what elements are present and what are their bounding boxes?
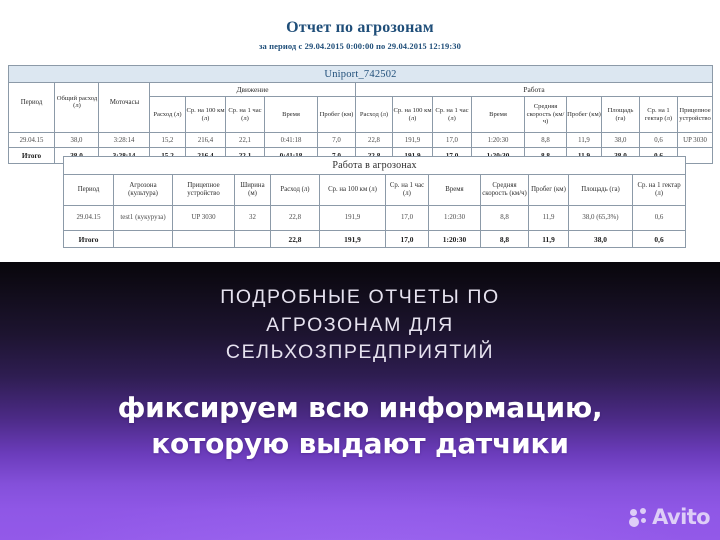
cell: 0,6 — [633, 206, 686, 231]
col-header: Время — [265, 97, 318, 133]
promo-subheadline-line: которую выдают датчики — [0, 426, 720, 462]
col-header: Время — [429, 175, 481, 206]
avito-logo-icon — [629, 508, 648, 527]
col-header: Прицепное устройство — [173, 175, 235, 206]
col-header: Ср. на 1 час (л) — [226, 97, 265, 133]
cell: 0:41:18 — [265, 133, 318, 148]
group-header-movement: Движение — [150, 83, 356, 97]
col-header: Время — [472, 97, 525, 133]
cell: 8,8 — [481, 206, 529, 231]
report-document: Отчет по агрозонам за период с 29.04.201… — [0, 0, 720, 262]
cell: 29.04.15 — [64, 206, 114, 231]
cell — [173, 231, 235, 248]
col-header: Средняя скорость (км/ч) — [525, 97, 567, 133]
col-header: Расход (л) — [150, 97, 186, 133]
agro-table-data-row: 29.04.15 test1 (кукуруза) UP 3030 32 22,… — [64, 206, 686, 231]
cell: Итого — [9, 148, 55, 164]
agro-table-band-row: Работа в агрозонах — [64, 157, 686, 175]
col-header: Ср. на 100 км (л) — [186, 97, 226, 133]
col-header: Ср. на 1 гектар (л) — [640, 97, 678, 133]
promo-banner: ПОДРОБНЫЕ ОТЧЕТЫ ПО АГРОЗОНАМ ДЛЯ СЕЛЬХО… — [0, 262, 720, 540]
agrozone-work-table: Работа в агрозонах Период Агрозона (куль… — [63, 156, 686, 248]
cell: 7,0 — [318, 133, 356, 148]
promo-subheadline-line: фиксируем всю информацию, — [0, 390, 720, 426]
cell: 11,9 — [567, 133, 602, 148]
cell: 29.04.15 — [9, 133, 55, 148]
main-table-container: Uniport_742502 Движение Работа Расход (л… — [8, 65, 712, 164]
cell: 191,9 — [320, 206, 386, 231]
col-header: Пробег (км) — [318, 97, 356, 133]
agro-table-header-row: Период Агрозона (культура) Прицепное уст… — [64, 175, 686, 206]
agrozone-band-title: Работа в агрозонах — [64, 157, 686, 175]
cell: 8,8 — [525, 133, 567, 148]
cell: 191,9 — [393, 133, 433, 148]
main-table-data-row: 29.04.15 38,0 3:28:14 15,2 216,4 22,1 0:… — [9, 133, 713, 148]
cell: 1:20:30 — [472, 133, 525, 148]
cell: 11,9 — [529, 231, 569, 248]
col-header: Ср. на 1 час (л) — [433, 97, 472, 133]
col-header: Расход (л) — [271, 175, 320, 206]
promo-headline: ПОДРОБНЫЕ ОТЧЕТЫ ПО АГРОЗОНАМ ДЛЯ СЕЛЬХО… — [0, 284, 720, 367]
cell: 38,0 — [602, 133, 640, 148]
cell: 191,9 — [320, 231, 386, 248]
col-header: Ср. на 1 час (л) — [386, 175, 429, 206]
cell: UP 3030 — [678, 133, 713, 148]
col-header: Период — [9, 80, 54, 124]
col-header: Моточасы — [99, 80, 150, 124]
cell — [235, 231, 271, 248]
cell: 17,0 — [386, 231, 429, 248]
cell: 38,0 — [569, 231, 633, 248]
cell: test1 (кукуруза) — [114, 206, 173, 231]
cell: 38,0 (65,3%) — [569, 206, 633, 231]
col-header: Расход (л) — [356, 97, 393, 133]
cell: 22,8 — [356, 133, 393, 148]
group-header-work: Работа — [356, 83, 713, 97]
col-header: Период — [64, 175, 114, 206]
col-header: Пробег (км) — [567, 97, 602, 133]
screenshot-root: Отчет по агрозонам за период с 29.04.201… — [0, 0, 720, 540]
col-header: Ширина (м) — [235, 175, 271, 206]
col-header: Пробег (км) — [529, 175, 569, 206]
col-header: Ср. на 1 гектар (л) — [633, 175, 686, 206]
cell: 1:20:30 — [429, 231, 481, 248]
cell: Итого — [64, 231, 114, 248]
cell: 8,8 — [481, 231, 529, 248]
cell: 1:20:30 — [429, 206, 481, 231]
avito-wordmark: Avito — [652, 507, 710, 528]
cell: 17,0 — [433, 133, 472, 148]
agrozone-table-container: Работа в агрозонах Период Агрозона (куль… — [63, 156, 655, 248]
report-title: Отчет по агрозонам — [0, 0, 720, 37]
col-header: Площадь (га) — [569, 175, 633, 206]
promo-headline-line: АГРОЗОНАМ ДЛЯ — [0, 312, 720, 340]
cell: 32 — [235, 206, 271, 231]
agro-table-total-row: Итого 22,8 191,9 17,0 1:20:30 8,8 11,9 3… — [64, 231, 686, 248]
promo-headline-line: СЕЛЬХОЗПРЕДПРИЯТИЙ — [0, 339, 720, 367]
col-header: Ср. на 100 км (л) — [393, 97, 433, 133]
avito-watermark: Avito — [629, 507, 710, 528]
report-period-subtitle: за период с 29.04.2015 0:00:00 по 29.04.… — [0, 41, 720, 51]
col-header: Общий расход (л) — [55, 80, 99, 124]
cell: 216,4 — [186, 133, 226, 148]
promo-banner-inner: ПОДРОБНЫЕ ОТЧЕТЫ ПО АГРОЗОНАМ ДЛЯ СЕЛЬХО… — [0, 262, 720, 540]
col-header: Агрозона (культура) — [114, 175, 173, 206]
cell: 22,1 — [226, 133, 265, 148]
cell: UP 3030 — [173, 206, 235, 231]
promo-headline-line: ПОДРОБНЫЕ ОТЧЕТЫ ПО — [0, 284, 720, 312]
cell: 11,9 — [529, 206, 569, 231]
cell: 17,0 — [386, 206, 429, 231]
cell: 22,8 — [271, 206, 320, 231]
promo-subheadline: фиксируем всю информацию, которую выдают… — [0, 390, 720, 462]
cell — [114, 231, 173, 248]
col-header: Площадь (га) — [602, 97, 640, 133]
col-header: Ср. на 100 км (л) — [320, 175, 386, 206]
cell: 0,6 — [633, 231, 686, 248]
cell: 38,0 — [55, 133, 99, 148]
cell: 0,6 — [640, 133, 678, 148]
col-header: Прицепное устройство — [678, 97, 713, 133]
cell: 22,8 — [271, 231, 320, 248]
col-header: Средняя скорость (км/ч) — [481, 175, 529, 206]
cell: 3:28:14 — [99, 133, 150, 148]
cell: 15,2 — [150, 133, 186, 148]
